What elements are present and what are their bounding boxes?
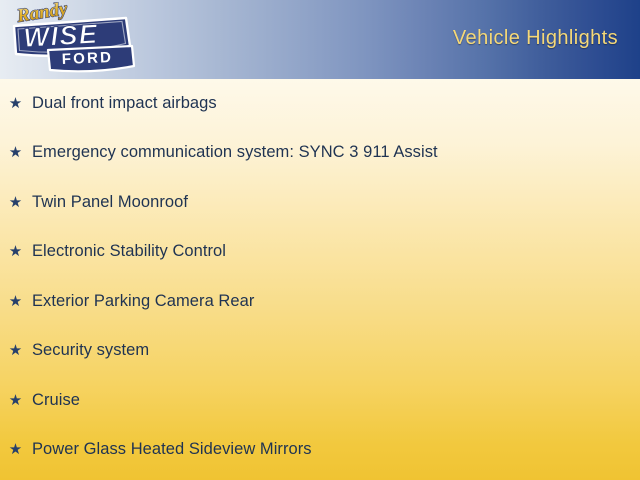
list-item: ★ Emergency communication system: SYNC 3… — [8, 139, 630, 165]
logo-ford-banner: FORD — [48, 46, 134, 71]
list-item: ★ Exterior Parking Camera Rear — [8, 288, 630, 314]
logo-ford-text: FORD — [62, 49, 114, 68]
list-item: ★ Electronic Stability Control — [8, 238, 630, 264]
star-icon: ★ — [8, 393, 23, 408]
highlight-label: Twin Panel Moonroof — [32, 192, 630, 212]
list-item: ★ Dual front impact airbags — [8, 90, 630, 116]
page-title: Vehicle Highlights — [453, 27, 618, 50]
highlight-label: Dual front impact airbags — [32, 93, 630, 113]
star-icon: ★ — [8, 442, 23, 457]
star-icon: ★ — [8, 244, 23, 259]
star-icon: ★ — [8, 96, 23, 111]
highlight-label: Exterior Parking Camera Rear — [32, 291, 630, 311]
list-item: ★ Power Glass Heated Sideview Mirrors — [8, 436, 630, 462]
highlight-label: Electronic Stability Control — [32, 241, 630, 261]
star-icon: ★ — [8, 195, 23, 210]
vehicle-highlights-slide: WISE Randy FORD Vehicle Highlights ★ Dua… — [0, 0, 640, 480]
star-icon: ★ — [8, 294, 23, 309]
highlight-label: Emergency communication system: SYNC 3 9… — [32, 142, 630, 162]
list-item: ★ Cruise — [8, 387, 630, 413]
star-icon: ★ — [8, 145, 23, 160]
highlight-label: Cruise — [32, 390, 630, 410]
dealership-logo: WISE Randy FORD — [4, 2, 140, 78]
highlight-label: Power Glass Heated Sideview Mirrors — [32, 439, 630, 459]
header-band: WISE Randy FORD Vehicle Highlights — [0, 0, 640, 79]
star-icon: ★ — [8, 343, 23, 358]
vehicle-highlights-list: ★ Dual front impact airbags ★ Emergency … — [0, 79, 640, 480]
highlight-label: Security system — [32, 340, 630, 360]
list-item: ★ Twin Panel Moonroof — [8, 189, 630, 215]
list-item: ★ Security system — [8, 337, 630, 363]
